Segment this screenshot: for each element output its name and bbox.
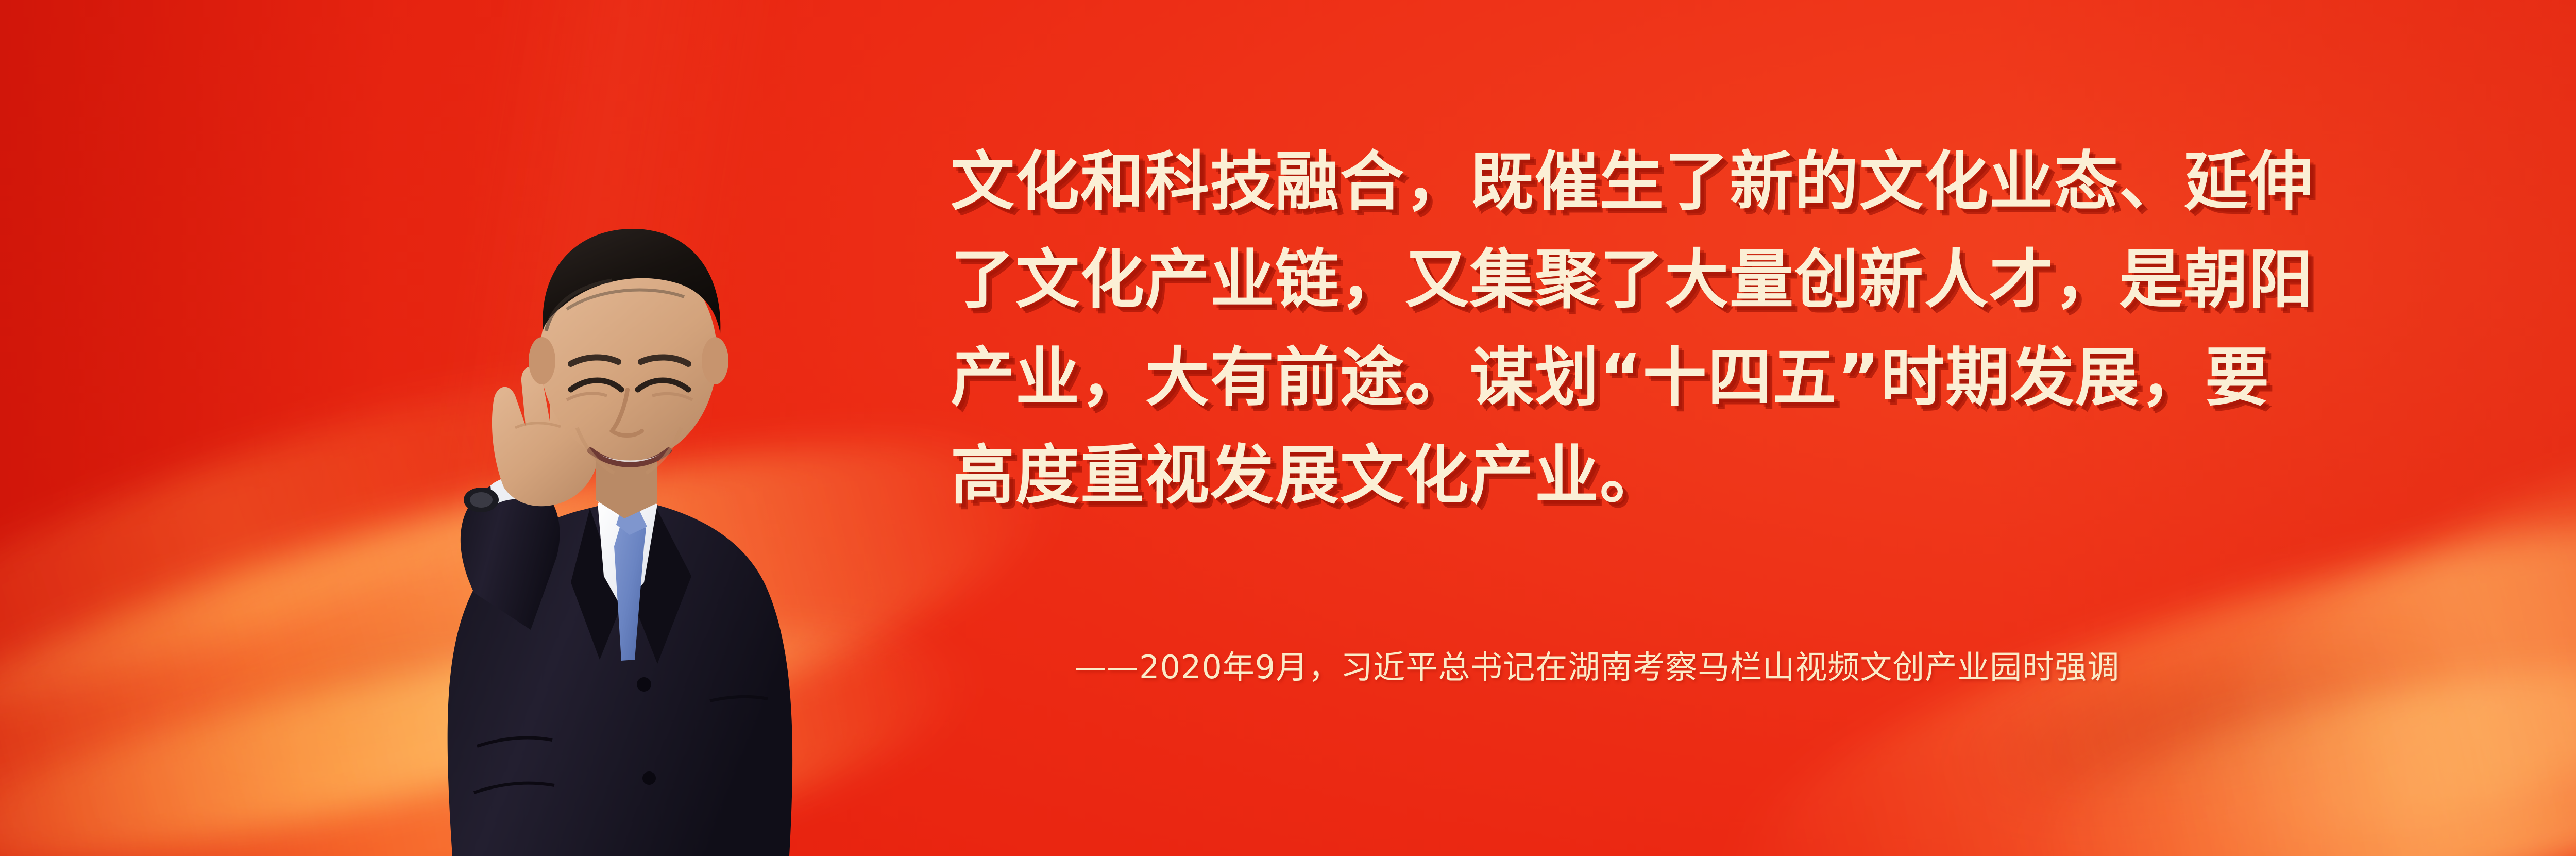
- portrait-figure: [289, 139, 871, 856]
- quote-line-3: 产业，大有前途。谋划“十四五”时期发展，要: [951, 329, 2445, 427]
- quote-line-2: 了文化产业链，又集聚了大量创新人才，是朝阳: [951, 231, 2445, 329]
- quote-text-block: 文化和科技融合，既催生了新的文化业态、延伸 了文化产业链，又集聚了大量创新人才，…: [951, 133, 2445, 525]
- quote-attribution: ——2020年9月，习近平总书记在湖南考察马栏山视频文创产业园时强调: [1074, 647, 2120, 687]
- promotional-banner: 文化和科技融合，既催生了新的文化业态、延伸 了文化产业链，又集聚了大量创新人才，…: [0, 0, 2576, 856]
- quote-line-1: 文化和科技融合，既催生了新的文化业态、延伸: [951, 133, 2445, 231]
- quote-line-4: 高度重视发展文化产业。: [951, 427, 2445, 525]
